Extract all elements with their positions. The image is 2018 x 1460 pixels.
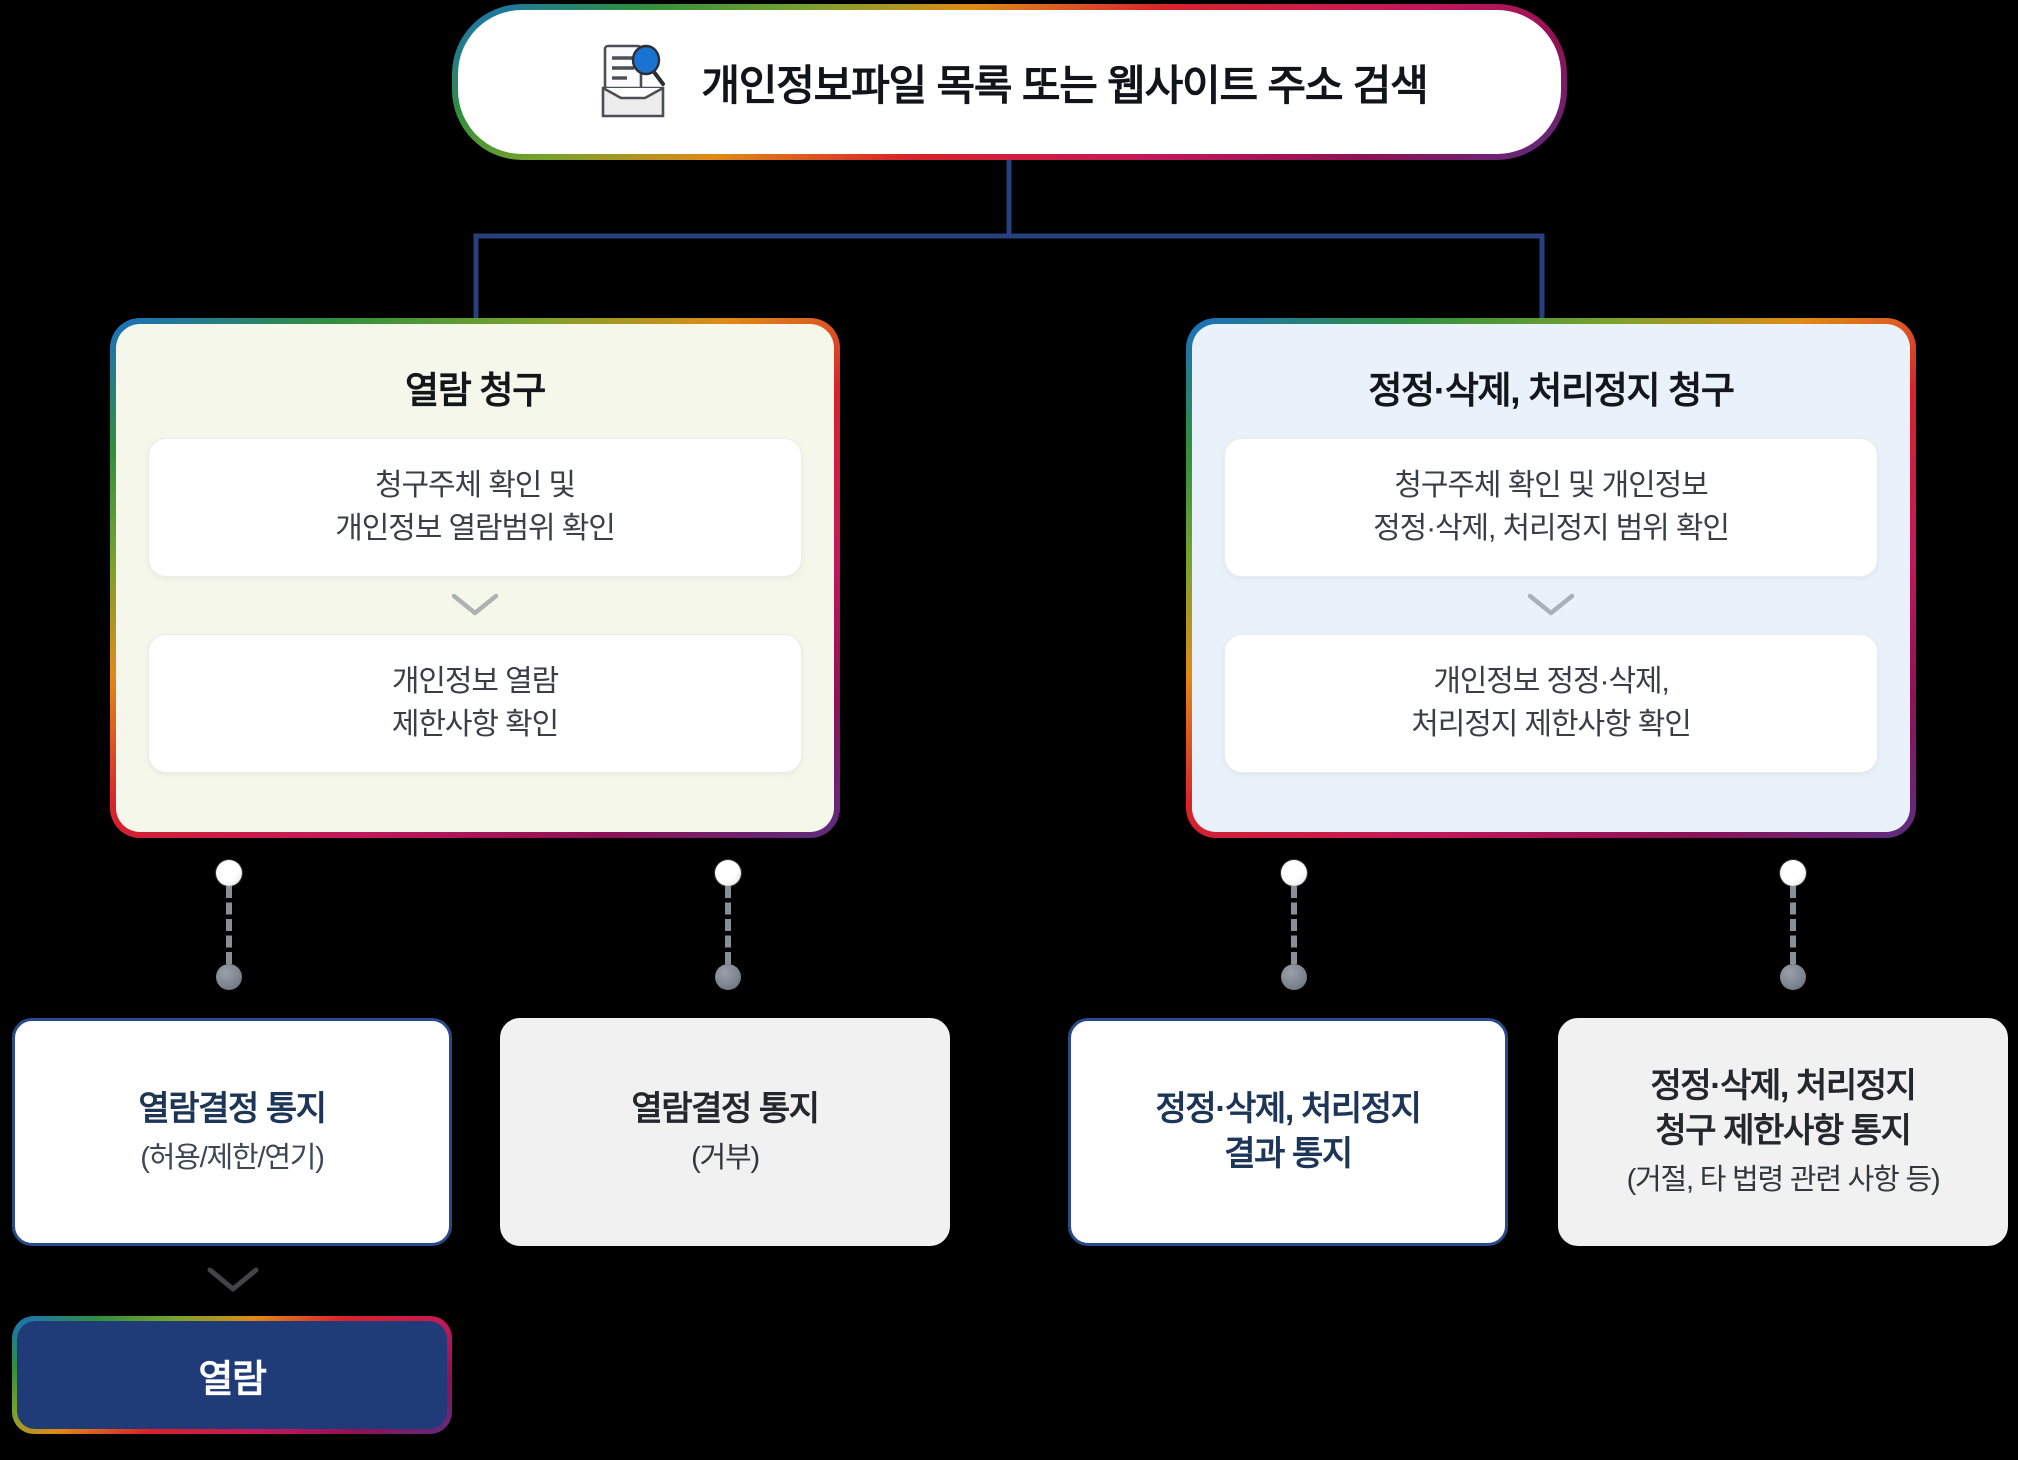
branch-card-inquiry[interactable]: 열람 청구 청구주체 확인 및 개인정보 열람범위 확인 개인정보 열람 제한사…	[110, 318, 840, 838]
step-line: 개인정보 정정·삭제, 처리정지 제한사항 확인	[1243, 661, 1859, 746]
result-box-correction-limitation[interactable]: 정정·삭제, 처리정지 청구 제한사항 통지 (거절, 타 법령 관련 사항 등…	[1558, 1018, 2008, 1246]
document-search-icon	[591, 40, 675, 124]
search-banner-label: 개인정보파일 목록 또는 웹사이트 주소 검색	[701, 52, 1427, 113]
step-line: 청구주체 확인 및 개인정보 열람범위 확인	[167, 465, 783, 550]
connector-dot-bottom	[1281, 964, 1307, 990]
connector-stem	[226, 886, 232, 964]
chevron-down-icon	[203, 1262, 263, 1296]
chevron-down-icon	[448, 589, 502, 624]
result-subtitle: (거부)	[691, 1140, 759, 1178]
step-box-correction-2: 개인정보 정정·삭제, 처리정지 제한사항 확인	[1224, 634, 1878, 773]
branch-title-inquiry: 열람 청구	[405, 360, 545, 414]
result-subtitle: (허용/제한/연기)	[140, 1140, 324, 1178]
branch-title-correction: 정정·삭제, 처리정지 청구	[1368, 360, 1733, 414]
connector-stem	[1291, 886, 1297, 964]
result-box-correction-result[interactable]: 정정·삭제, 처리정지 결과 통지	[1068, 1018, 1508, 1246]
connector-stem	[725, 886, 731, 964]
search-banner[interactable]: 개인정보파일 목록 또는 웹사이트 주소 검색	[452, 4, 1567, 160]
final-outcome-box[interactable]: 열람	[12, 1316, 452, 1434]
connector-dot-top	[216, 860, 242, 886]
result-title: 정정·삭제, 처리정지 결과 통지	[1155, 1087, 1420, 1177]
dotted-connector-4	[1780, 860, 1806, 990]
step-box-inquiry-1: 청구주체 확인 및 개인정보 열람범위 확인	[148, 438, 802, 577]
result-title: 정정·삭제, 처리정지 청구 제한사항 통지	[1650, 1064, 1915, 1154]
result-title: 열람결정 통지	[631, 1087, 818, 1132]
connector-dot-top	[1780, 860, 1806, 886]
branch-card-correction[interactable]: 정정·삭제, 처리정지 청구 청구주체 확인 및 개인정보 정정·삭제, 처리정…	[1186, 318, 1916, 838]
connector-dot-bottom	[216, 964, 242, 990]
chevron-down-icon	[1524, 589, 1578, 624]
step-line: 청구주체 확인 및 개인정보 정정·삭제, 처리정지 범위 확인	[1243, 465, 1859, 550]
flow-diagram: 개인정보파일 목록 또는 웹사이트 주소 검색 열람 청구 청구주체 확인 및 …	[0, 0, 2018, 1460]
connector-stem	[1790, 886, 1796, 964]
connector-dot-top	[715, 860, 741, 886]
connector-dot-bottom	[715, 964, 741, 990]
dotted-connector-1	[216, 860, 242, 990]
connector-dot-bottom	[1780, 964, 1806, 990]
step-box-inquiry-2: 개인정보 열람 제한사항 확인	[148, 634, 802, 773]
step-box-correction-1: 청구주체 확인 및 개인정보 정정·삭제, 처리정지 범위 확인	[1224, 438, 1878, 577]
connector-dot-top	[1281, 860, 1307, 886]
dotted-connector-2	[715, 860, 741, 990]
step-line: 개인정보 열람 제한사항 확인	[167, 661, 783, 746]
result-subtitle: (거절, 타 법령 관련 사항 등)	[1627, 1162, 1940, 1200]
final-outcome-label: 열람	[198, 1348, 265, 1403]
dotted-connector-3	[1281, 860, 1307, 990]
result-box-inquiry-decision[interactable]: 열람결정 통지 (허용/제한/연기)	[12, 1018, 452, 1246]
result-title: 열람결정 통지	[138, 1087, 325, 1132]
result-box-inquiry-refusal[interactable]: 열람결정 통지 (거부)	[500, 1018, 950, 1246]
